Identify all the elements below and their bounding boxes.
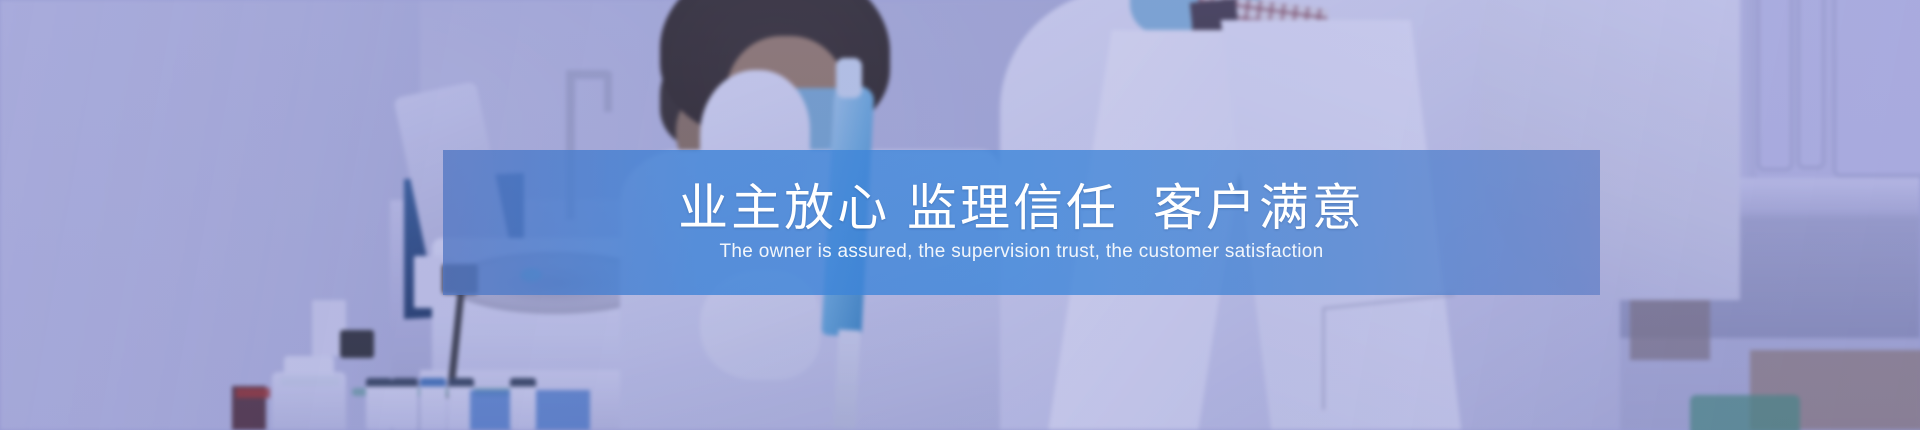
headline-band: 业主放心 监理信任 客户满意 The owner is assured, the…: [443, 150, 1600, 295]
hero-banner: 业主放心 监理信任 客户满意 The owner is assured, the…: [0, 0, 1920, 430]
banner-headline: 业主放心 监理信任 客户满意: [678, 182, 1365, 235]
banner-subheadline: The owner is assured, the supervision tr…: [720, 241, 1324, 263]
